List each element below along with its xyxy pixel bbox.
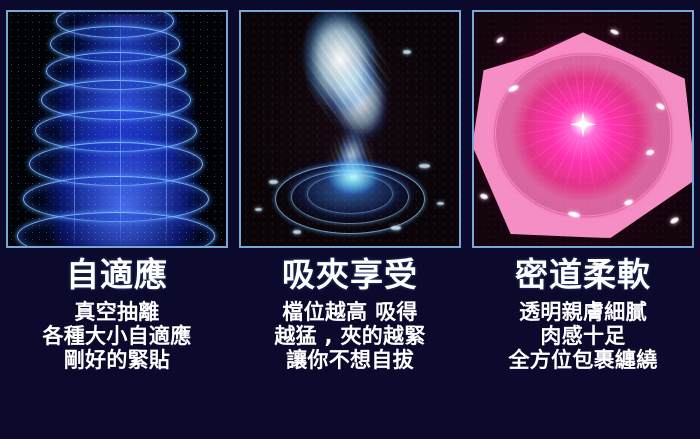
panel-3-scene [474, 12, 692, 246]
panel-1-subtitle-line: 真空抽離 [42, 300, 191, 324]
panel-2-noise [241, 12, 459, 246]
panel-1-subtitle: 真空抽離 各種大小自適應 剛好的緊貼 [42, 300, 191, 372]
feature-banner: 自適應 真空抽離 各種大小自適應 剛好的緊貼 [0, 0, 700, 439]
panel-3-noise [474, 12, 692, 246]
panel-3-subtitle-line: 全方位包裹纏繞 [508, 348, 657, 372]
feature-panel-self-adaptive[interactable]: 自適應 真空抽離 各種大小自適應 剛好的緊貼 [0, 0, 234, 439]
magenta-radial-bloom-image[interactable] [472, 10, 694, 248]
feature-panel-soft-channel[interactable]: 密道柔軟 透明親膚細膩 肉感十足 全方位包裹纏繞 [466, 0, 700, 439]
panel-3-headline: 密道柔軟 [515, 257, 651, 293]
white-cyan-twisted-plume-image[interactable] [239, 10, 461, 248]
feature-panel-suction-enjoyment[interactable]: 吸夾享受 檔位越高 吸得 越猛 , 夾的越緊 讓你不想自拔 [234, 0, 466, 439]
panel-3-subtitle: 透明親膚細膩 肉感十足 全方位包裹纏繞 [508, 300, 657, 372]
blue-ribbed-column-image[interactable] [6, 10, 228, 248]
panel-1-subtitle-line: 各種大小自適應 [42, 324, 191, 348]
panel-2-subtitle-line: 讓你不想自拔 [274, 348, 425, 372]
panel-3-subtitle-line: 透明親膚細膩 [508, 300, 657, 324]
panel-2-subtitle-line: 檔位越高 吸得 [274, 300, 425, 324]
panel-3-subtitle-line: 肉感十足 [508, 324, 657, 348]
panel-1-noise [8, 12, 226, 246]
panel-2-scene [241, 12, 459, 246]
panel-1-scene [8, 12, 226, 246]
panel-2-subtitle-line: 越猛 , 夾的越緊 [274, 324, 425, 348]
panel-2-subtitle: 檔位越高 吸得 越猛 , 夾的越緊 讓你不想自拔 [274, 300, 425, 372]
panel-1-subtitle-line: 剛好的緊貼 [42, 348, 191, 372]
panel-1-headline: 自適應 [66, 257, 168, 293]
panel-2-headline: 吸夾享受 [282, 257, 418, 293]
